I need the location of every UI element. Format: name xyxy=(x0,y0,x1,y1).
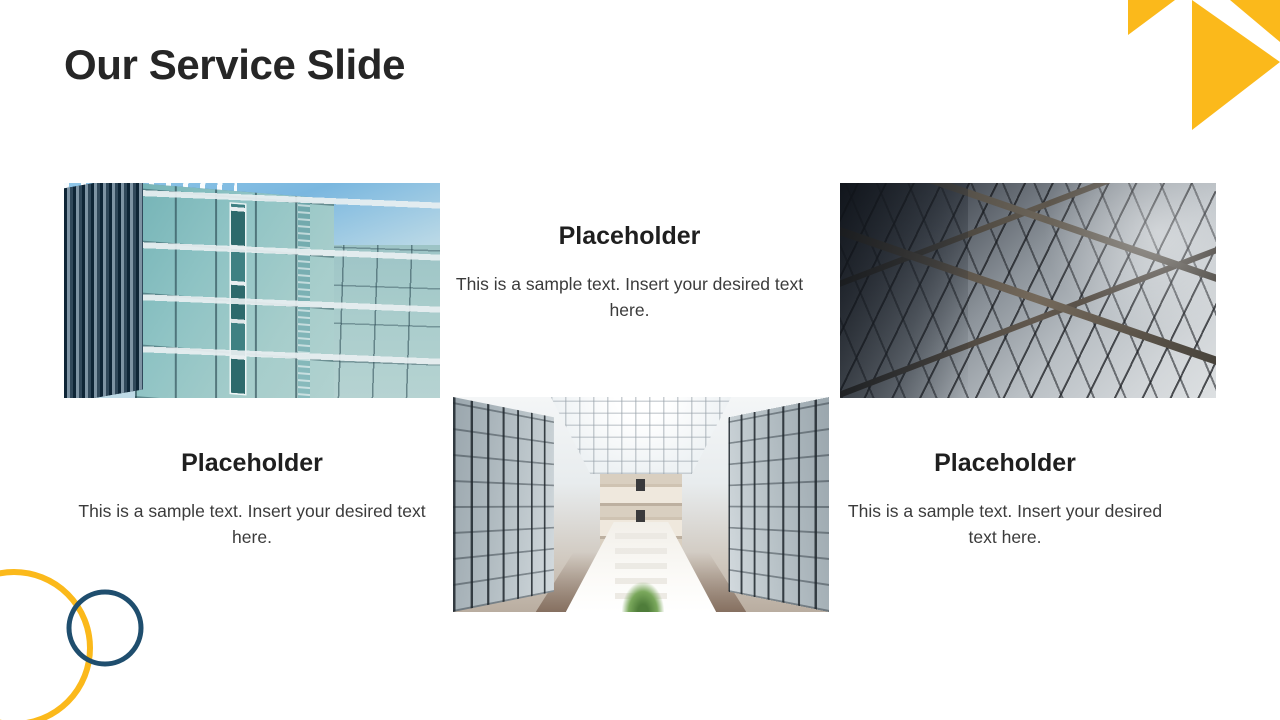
triangle-icon-corner xyxy=(1230,0,1280,42)
plant-layer xyxy=(622,582,663,612)
slide-canvas: Our Service Slide xyxy=(0,0,1280,720)
placeholder-body-center: This is a sample text. Insert your desir… xyxy=(453,272,806,323)
placeholder-heading-left: Placeholder xyxy=(64,448,440,478)
text-block-center: Placeholder This is a sample text. Inser… xyxy=(453,221,806,323)
placeholder-heading-center: Placeholder xyxy=(453,221,806,251)
text-block-right: Placeholder This is a sample text. Inser… xyxy=(840,448,1170,550)
placeholder-body-right: This is a sample text. Insert your desir… xyxy=(840,499,1170,550)
floor-slab-layer xyxy=(135,183,440,398)
circles-decoration xyxy=(0,560,190,720)
shadow-layer xyxy=(840,183,968,398)
triangle-icon-large xyxy=(1192,0,1280,130)
navy-circle-icon xyxy=(69,592,141,664)
placeholder-body-left: This is a sample text. Insert your desir… xyxy=(64,499,440,550)
placeholder-heading-right: Placeholder xyxy=(840,448,1170,478)
louver-layer xyxy=(64,183,143,398)
office-atrium-interior-photo xyxy=(453,397,829,612)
right-glass-wall xyxy=(728,397,829,612)
triangle-icon-small xyxy=(1128,0,1175,35)
glass-curtain-wall-photo xyxy=(840,183,1216,398)
text-block-left: Placeholder This is a sample text. Inser… xyxy=(64,448,440,550)
yellow-circle-icon xyxy=(0,572,90,720)
left-glass-wall xyxy=(453,397,554,612)
yellow-triangles-decoration xyxy=(1120,0,1280,140)
reflection-layer xyxy=(1036,183,1216,342)
glass-office-tower-photo xyxy=(64,183,440,398)
page-title: Our Service Slide xyxy=(64,40,405,90)
